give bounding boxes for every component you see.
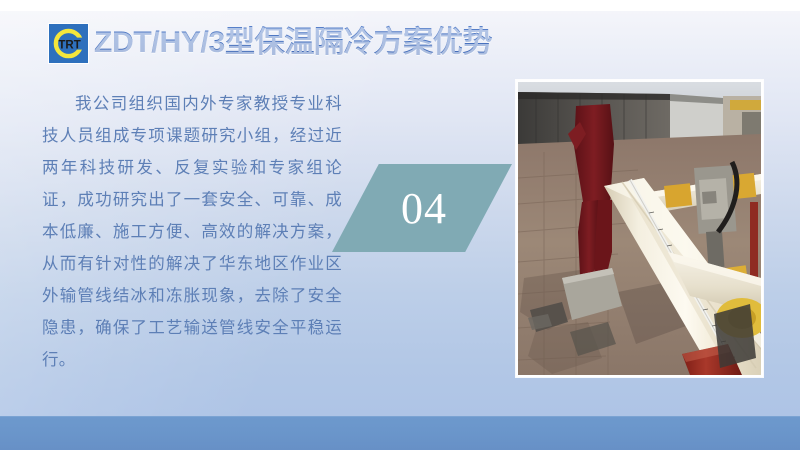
bottom-accent-bar: [0, 417, 800, 450]
background-top-strip: [0, 0, 800, 11]
photo-frame: [516, 80, 763, 377]
section-number-badge: 04: [332, 164, 512, 252]
trt-logo: TRT: [49, 24, 88, 63]
badge-number-label: 04: [332, 164, 512, 252]
page-title: ZDT/HY/3型保温隔冷方案优势: [94, 23, 492, 63]
slide-canvas: TRT ZDT/HY/3型保温隔冷方案优势 我公司组织国内外专家教授专业科技人员…: [0, 0, 800, 450]
svg-text:TRT: TRT: [58, 39, 80, 51]
site-photo: [518, 82, 761, 375]
body-paragraph: 我公司组织国内外专家教授专业科技人员组成专项课题研究小组，经过近两年科技研发、反…: [42, 88, 342, 376]
slide-header: TRT ZDT/HY/3型保温隔冷方案优势: [49, 21, 492, 65]
